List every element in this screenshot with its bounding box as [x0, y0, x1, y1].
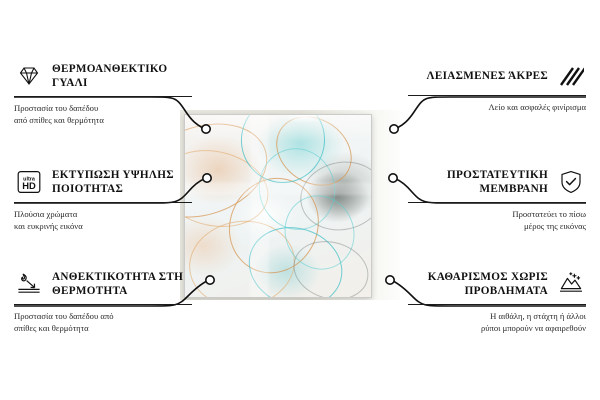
feature-heat-durability: ΑΝΘΕΚΤΙΚΟΤΗΤΑ ΣΤΗ ΘΕΡΜΟΤΗΤΑ Προστασία το… [14, 270, 192, 334]
divider [408, 202, 586, 203]
feature-high-quality-print: ultra HD ΕΚΤΥΠΩΣΗ ΥΨΗΛΗΣ ΠΟΙΟΤΗΤΑΣ Πλούσ… [14, 168, 192, 232]
feature-protective-membrane: ΠΡΟΣΤΑΤΕΥΤΙΚΗ ΜΕΜΒΡΑΝΗ Προστατεύει το πί… [408, 168, 586, 232]
divider [14, 304, 192, 305]
flame-heat-resistance-icon [14, 270, 44, 298]
feature-description: Προστατεύει το πίσω μέρος της εικόνας [408, 208, 586, 232]
feature-description: Προστασία του δαπέδου από σπίθες και θερ… [14, 310, 192, 334]
desc-line-1: Προστασία του δαπέδου [14, 102, 192, 114]
feature-header: ΚΑΘΑΡΙΣΜΟΣ ΧΩΡΙΣ ΠΡΟΒΛΗΜΑΤΑ [408, 270, 586, 299]
feature-title: ΘΕΡΜΟΑΝΘΕΚΤΙΚΟ ΓΥΑΛΙ [52, 62, 192, 91]
desc-line-2: σπίθες και θερμότητα [14, 322, 192, 334]
divider [408, 95, 586, 96]
feature-description: Προστασία του δαπέδου από σπίθες και θερ… [14, 102, 192, 126]
feature-title: ΛΕΙΑΣΜΕΝΕΣ ΆΚΡΕΣ [427, 69, 548, 83]
feature-header: ΑΝΘΕΚΤΙΚΟΤΗΤΑ ΣΤΗ ΘΕΡΜΟΤΗΤΑ [14, 270, 192, 299]
desc-line-1: Προστασία του δαπέδου από [14, 310, 192, 322]
feature-header: ΛΕΙΑΣΜΕΝΕΣ ΆΚΡΕΣ [408, 62, 586, 90]
diamond-icon [14, 62, 44, 90]
divider [408, 304, 586, 305]
diagonal-stripes-icon [556, 62, 586, 90]
hd-label: HD [22, 180, 36, 191]
desc-line-1: Πλούσια χρώματα [14, 208, 192, 220]
sparkle-clean-icon [556, 270, 586, 298]
desc-line-1: Προστατεύει το πίσω [408, 208, 586, 220]
desc-line-2: ρύποι μπορούν να αφαιρεθούν [408, 322, 586, 334]
desc-line-2: από σπίθες και θερμότητα [14, 114, 192, 126]
desc-line-1: Η αιθάλη, η στάχτη ή άλλοι [408, 310, 586, 322]
desc-line-2: και ευκρινής εικόνα [14, 220, 192, 232]
feature-header: ΘΕΡΜΟΑΝΘΕΚΤΙΚΟ ΓΥΑΛΙ [14, 62, 192, 91]
desc-line-1: Λείο και ασφαλές φινίρισμα [408, 101, 586, 113]
feature-easy-cleaning: ΚΑΘΑΡΙΣΜΟΣ ΧΩΡΙΣ ΠΡΟΒΛΗΜΑΤΑ Η αιθάλη, η … [408, 270, 586, 334]
shield-check-icon [556, 168, 586, 196]
feature-header: ultra HD ΕΚΤΥΠΩΣΗ ΥΨΗΛΗΣ ΠΟΙΟΤΗΤΑΣ [14, 168, 192, 197]
glass-panel [184, 114, 372, 298]
ultra-hd-icon: ultra HD [14, 168, 44, 196]
feature-title: ΕΚΤΥΠΩΣΗ ΥΨΗΛΗΣ ΠΟΙΟΤΗΤΑΣ [52, 168, 192, 197]
feature-header: ΠΡΟΣΤΑΤΕΥΤΙΚΗ ΜΕΜΒΡΑΝΗ [408, 168, 586, 197]
feature-smoothed-edges: ΛΕΙΑΣΜΕΝΕΣ ΆΚΡΕΣ Λείο και ασφαλές φινίρι… [408, 62, 586, 113]
feature-description: Πλούσια χρώματα και ευκρινής εικόνα [14, 208, 192, 232]
divider [14, 202, 192, 203]
feature-title: ΚΑΘΑΡΙΣΜΟΣ ΧΩΡΙΣ ΠΡΟΒΛΗΜΑΤΑ [408, 270, 548, 299]
infographic-canvas: ΘΕΡΜΟΑΝΘΕΚΤΙΚΟ ΓΥΑΛΙ Προστασία του δαπέδ… [0, 0, 600, 400]
feature-title: ΠΡΟΣΤΑΤΕΥΤΙΚΗ ΜΕΜΒΡΑΝΗ [408, 168, 548, 197]
feature-description: Η αιθάλη, η στάχτη ή άλλοι ρύποι μπορούν… [408, 310, 586, 334]
product-image [180, 110, 400, 300]
divider [14, 96, 192, 97]
desc-line-2: μέρος της εικόνας [408, 220, 586, 232]
feature-description: Λείο και ασφαλές φινίρισμα [408, 101, 586, 113]
feature-title: ΑΝΘΕΚΤΙΚΟΤΗΤΑ ΣΤΗ ΘΕΡΜΟΤΗΤΑ [52, 270, 192, 299]
feature-heat-resistant-glass: ΘΕΡΜΟΑΝΘΕΚΤΙΚΟ ΓΥΑΛΙ Προστασία του δαπέδ… [14, 62, 192, 126]
